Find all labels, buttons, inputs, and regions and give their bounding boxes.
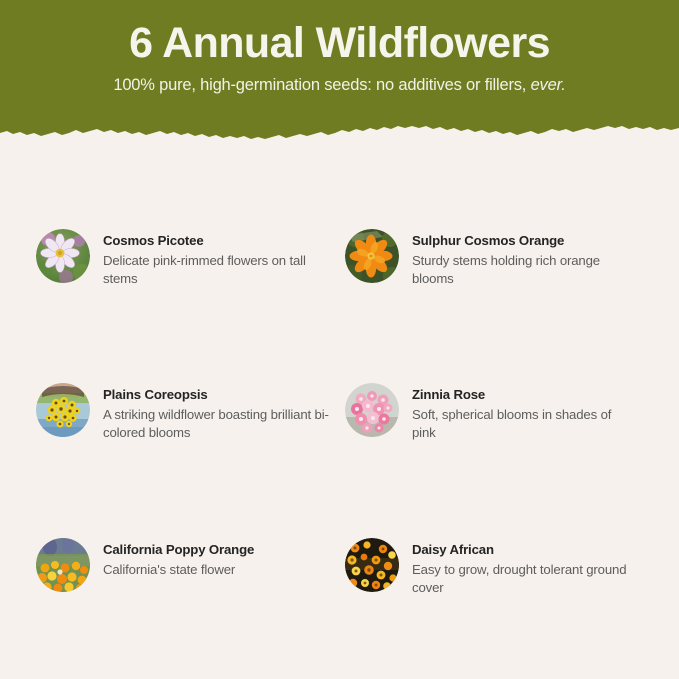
header-content: 6 Annual Wildflowers 100% pure, high-ger… (0, 0, 679, 96)
item-text-block: Sulphur Cosmos Orange Sturdy stems holdi… (412, 228, 634, 288)
daisy-african-thumbnail-icon (345, 538, 399, 592)
item-name: Zinnia Rose (412, 387, 634, 404)
flower-photo-graphic (345, 383, 399, 437)
subtitle-lead-text: 100% pure, high-germination seeds: no ad… (113, 76, 530, 94)
item-description: Delicate pink-rimmed flowers on tall ste… (103, 252, 331, 288)
item-text-block: California Poppy Orange California's sta… (103, 537, 254, 579)
flower-photo-graphic (345, 538, 399, 592)
item-name: Cosmos Picotee (103, 233, 331, 250)
zinnia-rose-thumbnail-icon (345, 383, 399, 437)
subtitle-emphasis-text: ever. (531, 76, 566, 94)
item-text-block: Cosmos Picotee Delicate pink-rimmed flow… (103, 228, 331, 288)
flower-photo-graphic (345, 229, 399, 283)
item-name: Daisy African (412, 542, 634, 559)
list-item[interactable]: Zinnia Rose Soft, spherical blooms in sh… (345, 382, 654, 442)
cosmos-picotee-thumbnail-icon (36, 229, 90, 283)
item-name: California Poppy Orange (103, 542, 254, 559)
sulphur-cosmos-orange-thumbnail-icon (345, 229, 399, 283)
item-description: Soft, spherical blooms in shades of pink (412, 406, 634, 442)
list-item[interactable]: Daisy African Easy to grow, drought tole… (345, 537, 654, 597)
item-description: Sturdy stems holding rich orange blooms (412, 252, 634, 288)
flower-photo-graphic (36, 383, 90, 437)
page-title: 6 Annual Wildflowers (0, 22, 679, 65)
item-description: A striking wildflower boasting brilliant… (103, 406, 331, 442)
item-name: Plains Coreopsis (103, 387, 331, 404)
plains-coreopsis-thumbnail-icon (36, 383, 90, 437)
item-description: Easy to grow, drought tolerant ground co… (412, 561, 634, 597)
page-subtitle: 100% pure, high-germination seeds: no ad… (0, 76, 679, 96)
item-description: California's state flower (103, 561, 254, 579)
california-poppy-orange-thumbnail-icon (36, 538, 90, 592)
flower-photo-graphic (36, 538, 90, 592)
list-item[interactable]: California Poppy Orange California's sta… (36, 537, 345, 597)
item-text-block: Plains Coreopsis A striking wildflower b… (103, 382, 331, 442)
list-item[interactable]: Sulphur Cosmos Orange Sturdy stems holdi… (345, 228, 654, 288)
torn-paper-edge (0, 109, 679, 142)
header-banner: 6 Annual Wildflowers 100% pure, high-ger… (0, 0, 679, 142)
item-text-block: Zinnia Rose Soft, spherical blooms in sh… (412, 382, 634, 442)
infographic-page: 6 Annual Wildflowers 100% pure, high-ger… (0, 0, 679, 679)
list-item[interactable]: Cosmos Picotee Delicate pink-rimmed flow… (36, 228, 345, 288)
item-text-block: Daisy African Easy to grow, drought tole… (412, 537, 634, 597)
flower-photo-graphic (36, 229, 90, 283)
wildflower-list: Cosmos Picotee Delicate pink-rimmed flow… (0, 228, 679, 597)
item-name: Sulphur Cosmos Orange (412, 233, 634, 250)
list-item[interactable]: Plains Coreopsis A striking wildflower b… (36, 382, 345, 442)
